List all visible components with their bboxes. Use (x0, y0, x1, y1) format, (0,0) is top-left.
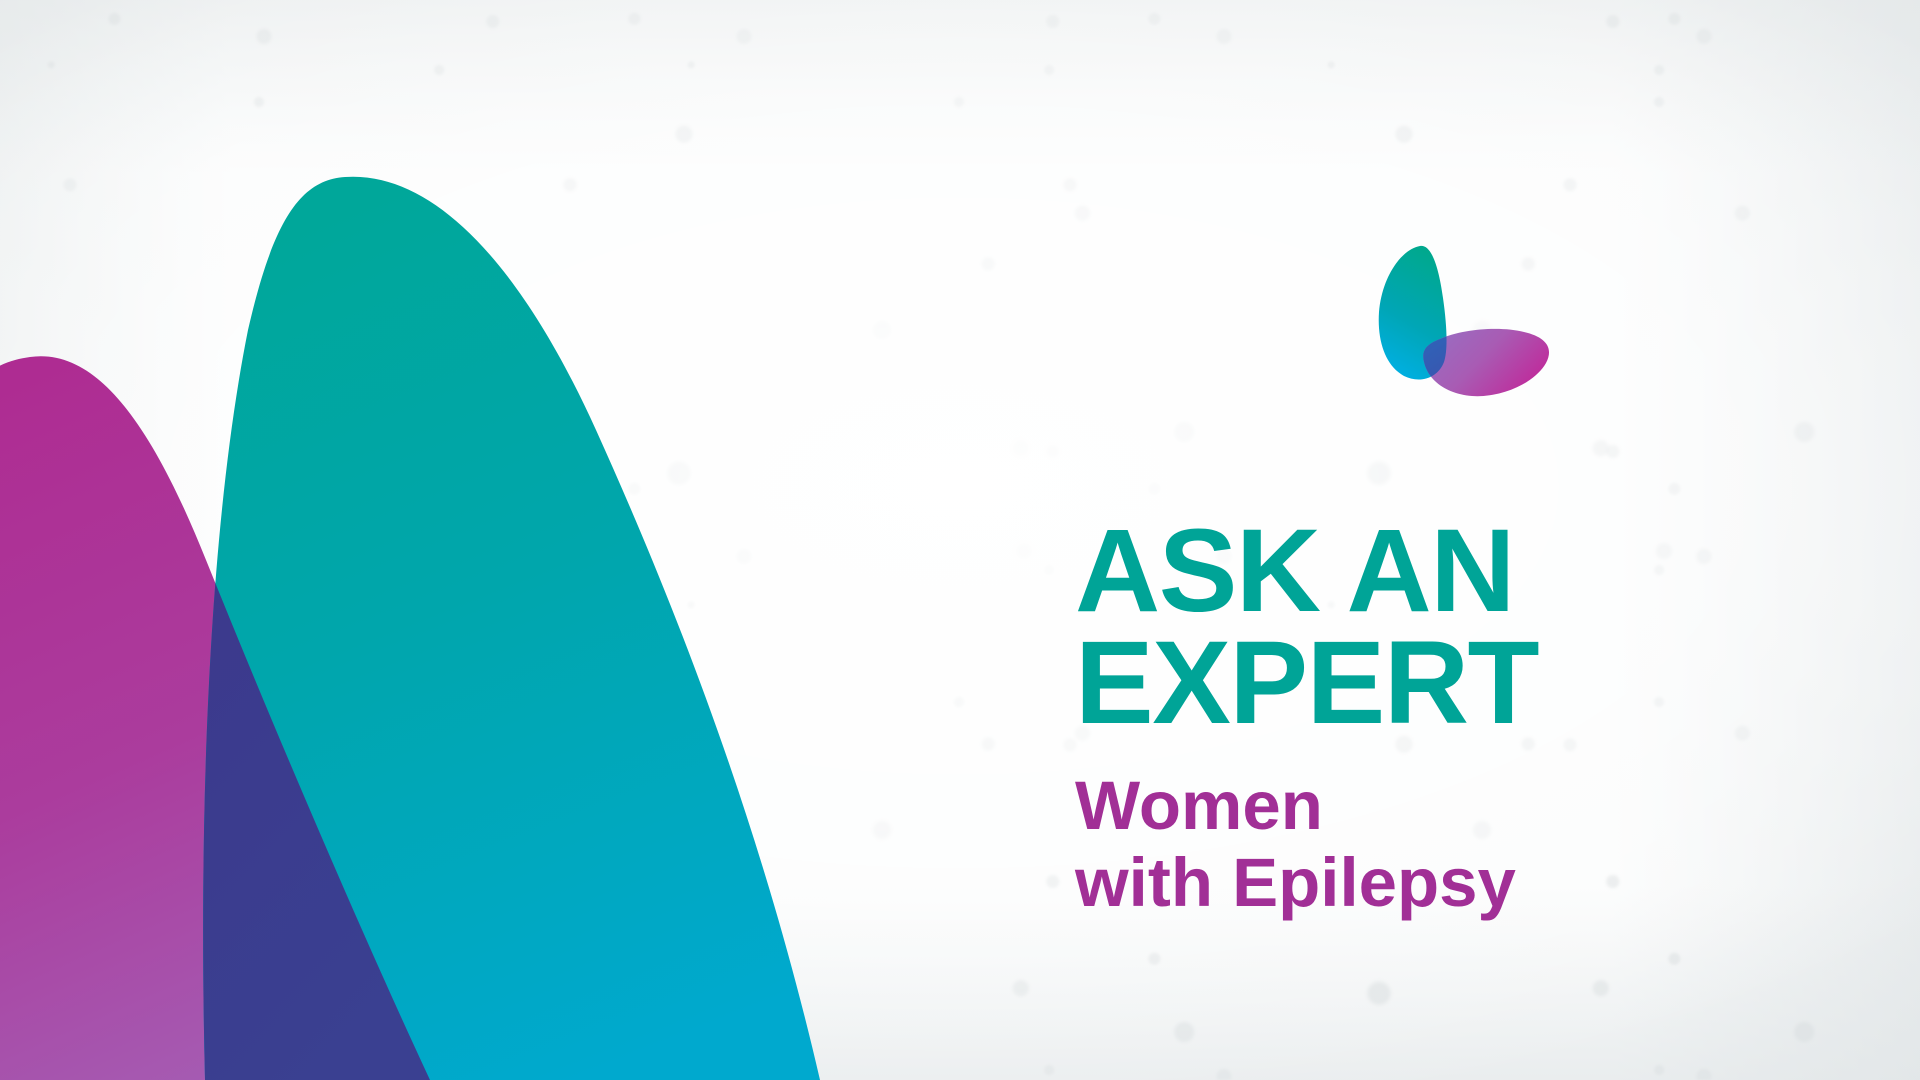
page-title: ASK AN EXPERT (1075, 515, 1795, 739)
headline-block: ASK AN EXPERT Women with Epilepsy (1075, 515, 1795, 922)
page-subtitle: Women with Epilepsy (1075, 767, 1795, 922)
epilepsy-butterfly-logo (1378, 232, 1568, 397)
slide-canvas: ASK AN EXPERT Women with Epilepsy (0, 0, 1920, 1080)
